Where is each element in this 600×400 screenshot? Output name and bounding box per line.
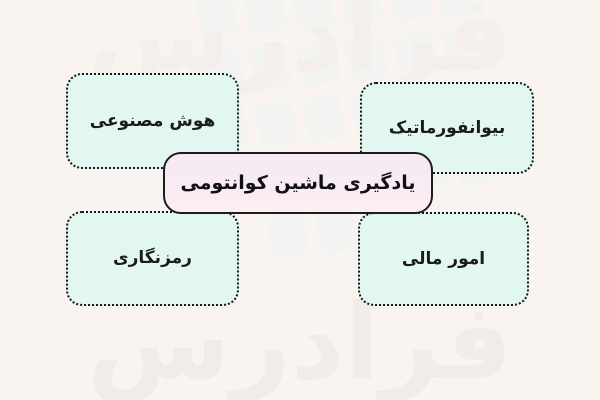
- branch-label-ai: هوش مصنوعی: [90, 110, 216, 132]
- branch-label-cryptography: رمزنگاری: [113, 247, 192, 269]
- center-node-label: یادگیری ماشین کوانتومی: [181, 171, 416, 196]
- diagram-canvas: فرادرس فرادرس هوش مصنوعی بیوانفورماتیک ر…: [0, 0, 600, 400]
- branch-node-finance[interactable]: امور مالی: [358, 212, 529, 306]
- branch-node-cryptography[interactable]: رمزنگاری: [66, 211, 239, 306]
- branch-label-bioinformatics: بیوانفورماتیک: [389, 117, 506, 139]
- branch-label-finance: امور مالی: [402, 248, 485, 270]
- center-node-quantum-machine-learning[interactable]: یادگیری ماشین کوانتومی: [163, 152, 433, 214]
